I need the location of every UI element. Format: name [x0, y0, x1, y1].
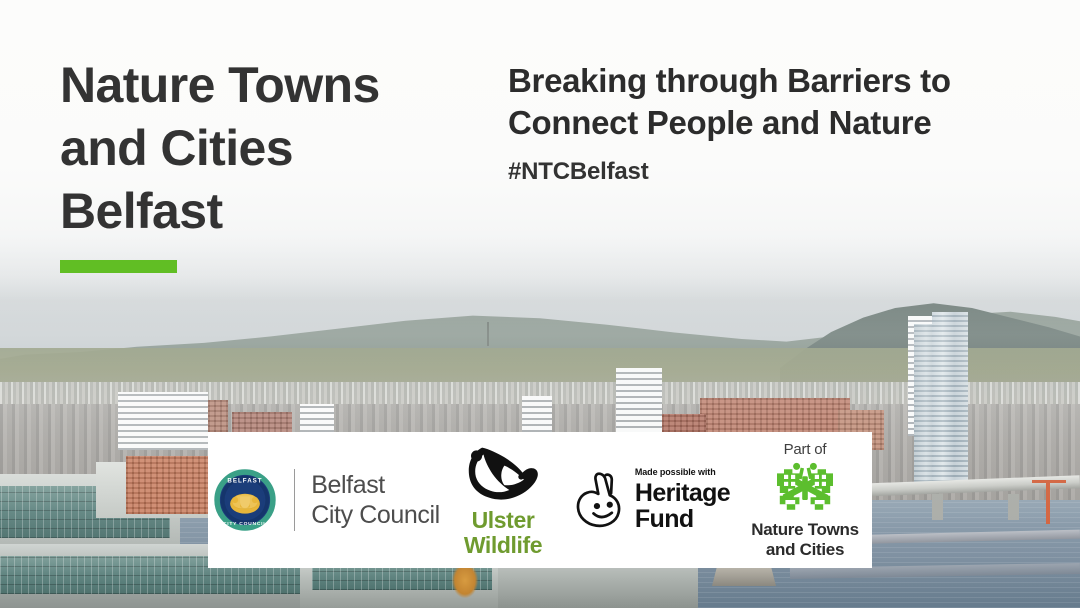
bcc-line-1: Belfast: [311, 470, 440, 500]
green-butterfly-icon: [751, 462, 859, 517]
logo-nature-towns-and-cities: Part of: [738, 432, 872, 568]
autumn-tree: [452, 566, 478, 598]
ulster-wildlife-wordmark: Ulster Wildlife: [461, 508, 545, 558]
belfast-city-council-crest-icon: BELFAST CITY COUNCIL: [214, 469, 276, 531]
partner-logo-bar: BELFAST CITY COUNCIL Belfast City Counci…: [208, 432, 872, 568]
transmitter-mast: [487, 322, 489, 346]
logo-heritage-fund: Made possible with Heritage Fund: [568, 432, 738, 568]
bridge-pier: [1008, 494, 1019, 520]
heritage-fund-wordmark: Made possible with Heritage Fund: [635, 468, 730, 532]
ntc-line-1: Nature Towns: [751, 520, 859, 540]
ntc-wordmark: Nature Towns and Cities: [751, 520, 859, 560]
subheading: Breaking through Barriers to Connect Peo…: [508, 60, 1038, 144]
green-accent-bar: [60, 260, 177, 273]
page-title: Nature Towns and Cities Belfast: [60, 54, 490, 243]
ntc-kicker: Part of: [751, 441, 859, 458]
presentation-slide: Nature Towns and Cities Belfast Breaking…: [0, 0, 1080, 608]
hf-line-1: Heritage: [635, 480, 730, 506]
logo-ulster-wildlife: Ulster Wildlife: [438, 432, 568, 568]
brick-building: [126, 456, 212, 514]
hf-line-2: Fund: [635, 506, 730, 532]
heritage-fund-kicker: Made possible with: [635, 468, 730, 477]
page-title-line-2: and Cities: [60, 117, 490, 180]
page-title-line-3: Belfast: [60, 180, 490, 243]
glass-tower-secondary: [914, 324, 934, 482]
office-block: [118, 392, 208, 450]
page-title-line-1: Nature Towns: [60, 54, 490, 117]
hashtag: #NTCBelfast: [508, 158, 1038, 186]
ntc-line-2: and Cities: [751, 540, 859, 560]
uw-line-2: Wildlife: [461, 533, 545, 558]
uw-line-1: Ulster: [461, 508, 545, 533]
bridge-pier: [932, 494, 943, 520]
svg-text:BELFAST: BELFAST: [228, 478, 263, 485]
logo-belfast-city-council: BELFAST CITY COUNCIL Belfast City Counci…: [208, 432, 438, 568]
badger-head-icon: [461, 442, 545, 506]
national-lottery-crossed-fingers-hand-icon: [576, 471, 626, 529]
logo-divider: [294, 469, 295, 531]
subheading-line-2: Connect People and Nature: [508, 102, 1038, 144]
bcc-line-2: City Council: [311, 500, 440, 530]
headline-block: Nature Towns and Cities Belfast: [60, 54, 490, 273]
obel-glass-tower: [932, 312, 968, 482]
construction-crane: [1046, 480, 1050, 524]
subheading-line-1: Breaking through Barriers to: [508, 60, 1038, 102]
belfast-city-council-wordmark: Belfast City Council: [311, 470, 440, 530]
svg-text:CITY COUNCIL: CITY COUNCIL: [223, 521, 267, 527]
subheading-block: Breaking through Barriers to Connect Peo…: [508, 60, 1038, 186]
